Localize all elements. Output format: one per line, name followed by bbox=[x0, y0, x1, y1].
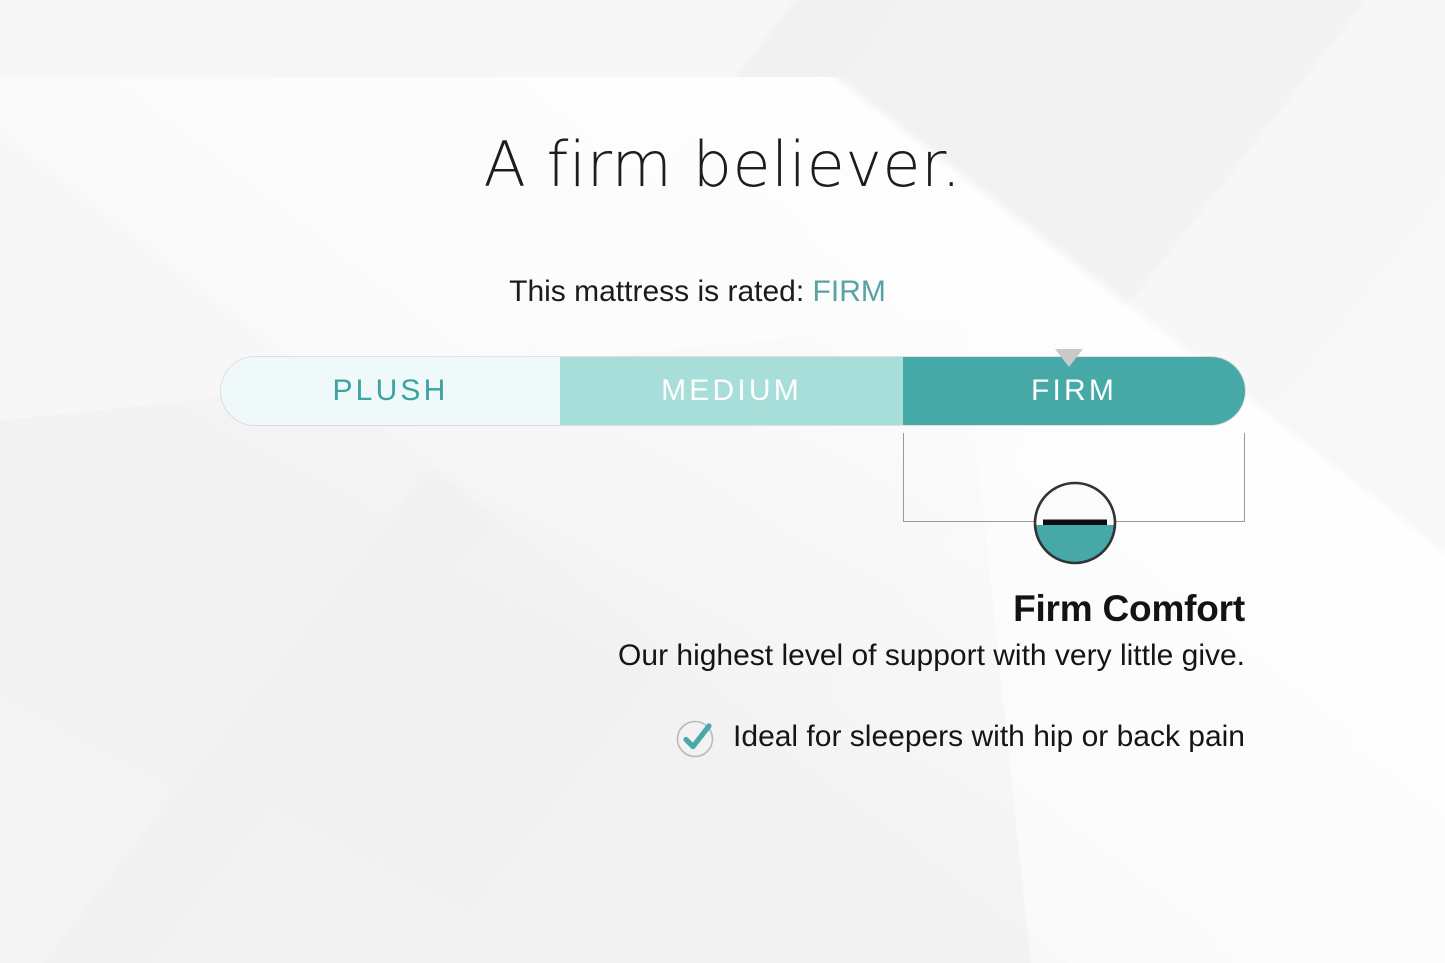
benefit-row: Ideal for sleepers with hip or back pain bbox=[245, 716, 1245, 758]
half-filled-circle-firm-icon bbox=[1033, 481, 1117, 565]
mattress-rating-line: This mattress is rated: FIRM bbox=[0, 274, 1395, 310]
rating-value-label: FIRM bbox=[813, 275, 886, 308]
bracket-rail-right bbox=[1110, 521, 1245, 522]
scale-pointer-triangle-icon bbox=[1055, 349, 1083, 367]
firmness-segment-firm[interactable]: FIRM bbox=[903, 357, 1245, 425]
firmness-scale-bar[interactable]: PLUSH MEDIUM FIRM bbox=[221, 357, 1245, 425]
comfort-description: Our highest level of support with very l… bbox=[245, 638, 1245, 674]
rating-prefix-label: This mattress is rated: bbox=[509, 275, 812, 308]
bracket-rail-left bbox=[903, 521, 1038, 522]
firmness-segment-medium[interactable]: MEDIUM bbox=[560, 357, 903, 425]
firmness-segment-plush[interactable]: PLUSH bbox=[221, 357, 560, 425]
content-stage: A firm believer. This mattress is rated:… bbox=[0, 0, 1445, 963]
bracket-stem-right bbox=[1244, 433, 1245, 522]
comfort-detail-block: Firm Comfort Our highest level of suppor… bbox=[245, 588, 1245, 674]
comfort-title: Firm Comfort bbox=[245, 588, 1245, 631]
check-circle-icon bbox=[675, 717, 717, 759]
page-title: A firm believer. bbox=[0, 134, 1445, 196]
bracket-stem-left bbox=[903, 433, 904, 522]
benefit-text: Ideal for sleepers with hip or back pain bbox=[733, 719, 1245, 755]
